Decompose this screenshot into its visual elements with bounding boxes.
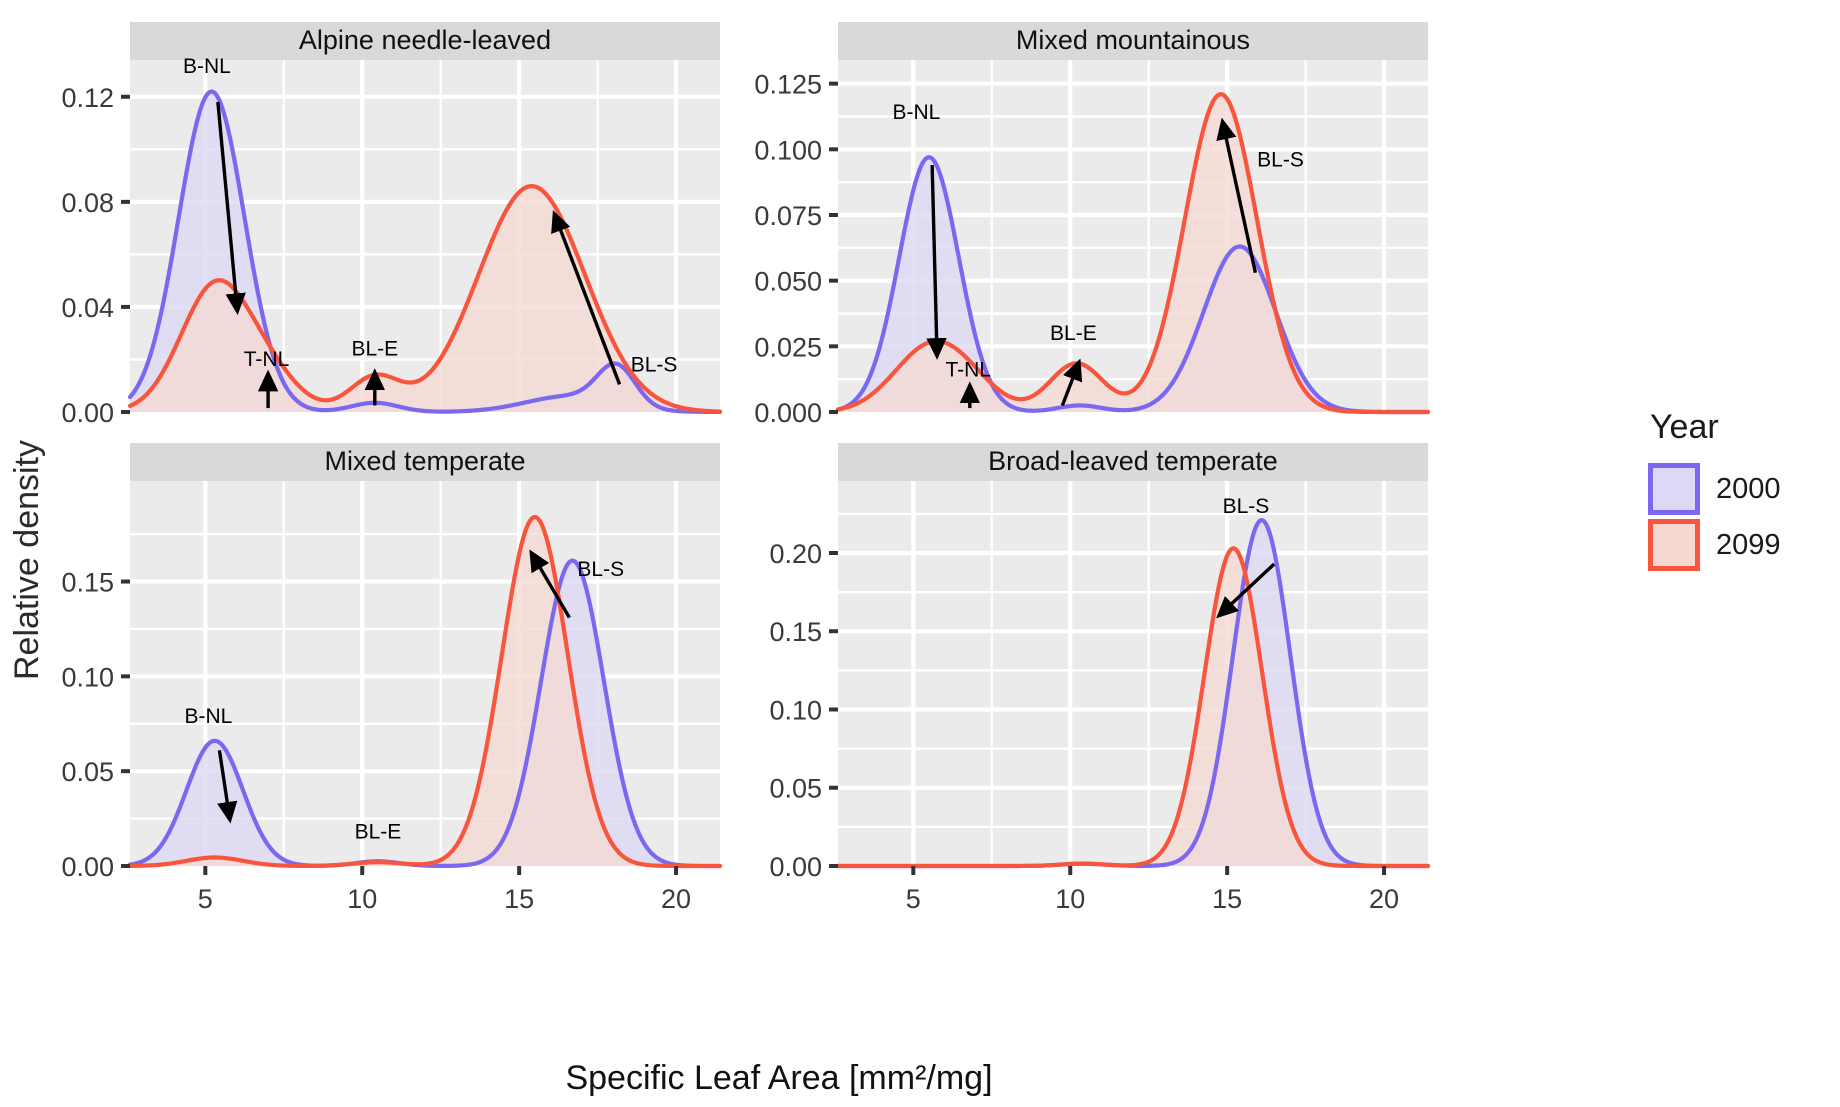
ytick-label: 0.12	[61, 83, 114, 113]
facet-title-1: Alpine needle-leaved	[299, 25, 551, 55]
legend-label-2099: 2099	[1716, 529, 1781, 562]
annotation-label-B-NL: B-NL	[893, 101, 941, 124]
annotation-label-T-NL: T-NL	[945, 359, 991, 382]
ytick-label: 0.15	[769, 617, 822, 647]
annotation-label-BL-E: BL-E	[1050, 322, 1097, 345]
ytick-label: 0.00	[61, 852, 114, 882]
ytick-label: 0.20	[769, 539, 822, 569]
xtick-label: 20	[1369, 884, 1399, 914]
y-axis-title: Relative density	[8, 440, 46, 680]
facet-title-2: Mixed mountainous	[1016, 25, 1250, 55]
panel-3: Mixed temperateB-NLBL-EBL-S0.000.050.100…	[61, 443, 720, 914]
xtick-label: 20	[661, 884, 691, 914]
figure-root: Alpine needle-leavedB-NLT-NLBL-EBL-S0.00…	[0, 0, 1840, 1107]
annotation-label-B-NL: B-NL	[185, 705, 233, 728]
xtick-label: 5	[198, 884, 213, 914]
xtick-label: 5	[906, 884, 921, 914]
annotation-label-B-NL: B-NL	[183, 55, 231, 78]
ytick-label: 0.025	[754, 332, 822, 362]
legend-swatch-2000	[1648, 463, 1700, 515]
ytick-label: 0.15	[61, 568, 114, 598]
annotation-label-BL-S: BL-S	[1257, 148, 1304, 171]
annotation-label-BL-S: BL-S	[631, 353, 678, 376]
legend-swatch-2099	[1648, 519, 1700, 571]
xtick-label: 15	[1212, 884, 1242, 914]
ytick-label: 0.050	[754, 267, 822, 297]
ytick-label: 0.10	[61, 662, 114, 692]
panel-1: Alpine needle-leavedB-NLT-NLBL-EBL-S0.00…	[61, 22, 720, 428]
annotation-label-BL-E: BL-E	[351, 338, 398, 361]
ytick-label: 0.100	[754, 135, 822, 165]
legend-title: Year	[1650, 408, 1838, 447]
ytick-label: 0.125	[754, 70, 822, 100]
facet-title-3: Mixed temperate	[324, 446, 525, 476]
legend-item-2099[interactable]: 2099	[1648, 519, 1838, 571]
ytick-label: 0.10	[769, 695, 822, 725]
x-axis-title: Specific Leaf Area [mm²/mg]	[565, 1059, 992, 1097]
xtick-label: 10	[347, 884, 377, 914]
legend: Year20002099	[1648, 408, 1838, 575]
ytick-label: 0.00	[61, 398, 114, 428]
ytick-label: 0.00	[769, 852, 822, 882]
legend-label-2000: 2000	[1716, 473, 1781, 506]
panel-background-4	[838, 481, 1428, 866]
ytick-label: 0.05	[61, 757, 114, 787]
ytick-label: 0.08	[61, 188, 114, 218]
legend-item-2000[interactable]: 2000	[1648, 463, 1838, 515]
panel-4: Broad-leaved temperateBL-S0.000.050.100.…	[769, 443, 1428, 914]
annotation-label-BL-S: BL-S	[577, 558, 624, 581]
annotation-label-BL-E: BL-E	[355, 821, 402, 844]
annotation-label-T-NL: T-NL	[244, 348, 290, 371]
ytick-label: 0.05	[769, 774, 822, 804]
xtick-label: 15	[504, 884, 534, 914]
ytick-label: 0.075	[754, 201, 822, 231]
panel-2: Mixed mountainousB-NLT-NLBL-EBL-S0.0000.…	[754, 22, 1428, 428]
annotation-label-BL-S: BL-S	[1223, 495, 1270, 518]
facet-title-4: Broad-leaved temperate	[988, 446, 1278, 476]
ytick-label: 0.000	[754, 398, 822, 428]
density-facet-chart: Alpine needle-leavedB-NLT-NLBL-EBL-S0.00…	[0, 0, 1840, 1107]
ytick-label: 0.04	[61, 293, 114, 323]
xtick-label: 10	[1055, 884, 1085, 914]
